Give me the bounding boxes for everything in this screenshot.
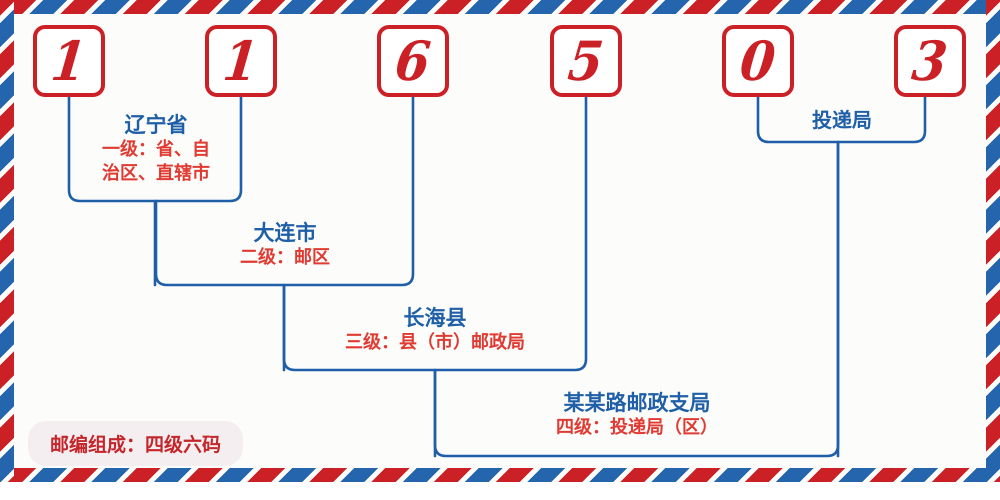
label-level1: 辽宁省 一级：省、自 治区、直辖市 — [75, 112, 237, 185]
label-level2: 大连市 二级：邮区 — [165, 220, 405, 270]
airmail-stripe-bottom — [0, 468, 1000, 482]
label-level1-subtitle-line1: 一级：省、自 — [75, 138, 237, 161]
label-level2-title: 大连市 — [165, 220, 405, 246]
postcode-digit-5: 0 — [738, 34, 778, 88]
postcode-digit-box-1[interactable]: 1 — [33, 25, 105, 97]
label-level1-title: 辽宁省 — [75, 112, 237, 138]
label-level3-subtitle: 三级：县（市）邮政局 — [292, 331, 578, 354]
postcode-digit-2: 1 — [221, 34, 261, 88]
postcode-digit-box-6[interactable]: 3 — [894, 25, 966, 97]
postcode-digit-box-5[interactable]: 0 — [722, 25, 794, 97]
postcode-digit-4: 5 — [566, 34, 606, 88]
label-level1-subtitle-line2: 治区、直辖市 — [75, 162, 237, 185]
label-level4-title: 某某路邮政支局 — [444, 390, 830, 416]
label-level3-title: 长海县 — [292, 305, 578, 331]
airmail-stripe-right — [986, 0, 1000, 482]
postcode-digit-box-4[interactable]: 5 — [550, 25, 622, 97]
postcode-digit-box-2[interactable]: 1 — [205, 25, 277, 97]
postcode-digit-1: 1 — [49, 34, 89, 88]
airmail-stripe-left — [0, 0, 14, 482]
airmail-stripe-top — [0, 0, 1000, 14]
postcode-digit-box-3[interactable]: 6 — [377, 25, 449, 97]
label-level2-subtitle: 二级：邮区 — [165, 246, 405, 269]
postcode-digit-6: 3 — [910, 34, 950, 88]
label-level4-subtitle: 四级：投递局（区） — [444, 416, 830, 439]
label-level4: 某某路邮政支局 四级：投递局（区） — [444, 390, 830, 440]
postcode-breakdown-diagram: 1 1 6 5 0 3 辽宁省 一级：省、自 治区、直辖市 大连市 二级：邮区 … — [0, 0, 1000, 500]
label-delivery-office-text: 投递局 — [766, 108, 918, 133]
label-delivery-office: 投递局 — [766, 108, 918, 133]
label-level3: 长海县 三级：县（市）邮政局 — [292, 305, 578, 355]
postcode-digit-3: 6 — [393, 34, 433, 88]
footer-badge: 邮编组成：四级六码 — [28, 421, 243, 466]
